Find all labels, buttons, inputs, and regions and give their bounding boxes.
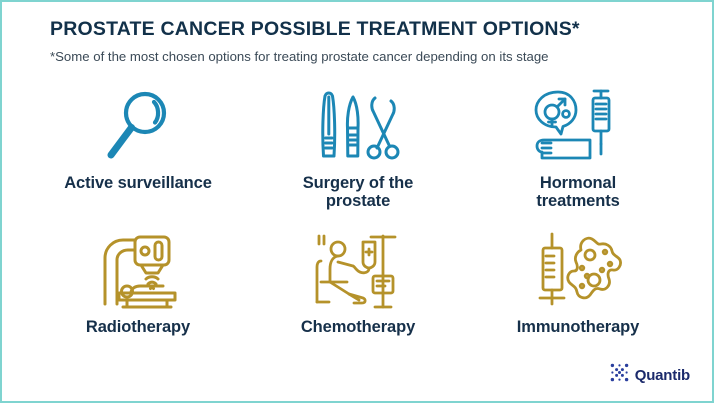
treatment-card-immunotherapy: Immunotherapy: [468, 230, 688, 364]
treatment-card-surgery: Surgery of the prostate: [248, 86, 468, 220]
surgical-instruments-icon: [315, 86, 401, 168]
treatment-card-radiotherapy: Radiotherapy: [28, 230, 248, 364]
quantib-node-mark-icon: [610, 363, 629, 387]
treatment-card-active-surveillance: Active surveillance: [28, 86, 248, 220]
treatment-label: Surgery of the prostate: [278, 174, 438, 211]
chemotherapy-iv-patient-icon: [313, 230, 403, 312]
treatment-options-grid: Active surveillance: [28, 86, 688, 364]
hormone-injection-icon: [532, 86, 624, 168]
magnifying-glass-icon: [101, 86, 175, 168]
quantib-logo: Quantib: [610, 363, 690, 387]
quantib-logo-text: Quantib: [635, 367, 690, 384]
treatment-label: Active surveillance: [64, 174, 212, 192]
slide-header: PROSTATE CANCER POSSIBLE TREATMENT OPTIO…: [2, 2, 712, 65]
radiotherapy-machine-icon: [93, 230, 183, 312]
treatment-card-hormonal: Hormonal treatments: [468, 86, 688, 220]
treatment-label: Hormonal treatments: [498, 174, 658, 211]
syringe-cell-icon: [532, 230, 624, 312]
treatment-card-chemotherapy: Chemotherapy: [248, 230, 468, 364]
treatment-label: Radiotherapy: [86, 318, 190, 336]
slide-canvas: PROSTATE CANCER POSSIBLE TREATMENT OPTIO…: [0, 0, 714, 403]
treatment-label: Immunotherapy: [517, 318, 639, 336]
page-subtitle: *Some of the most chosen options for tre…: [50, 49, 712, 65]
treatment-label: Chemotherapy: [301, 318, 415, 336]
page-title: PROSTATE CANCER POSSIBLE TREATMENT OPTIO…: [50, 18, 712, 40]
